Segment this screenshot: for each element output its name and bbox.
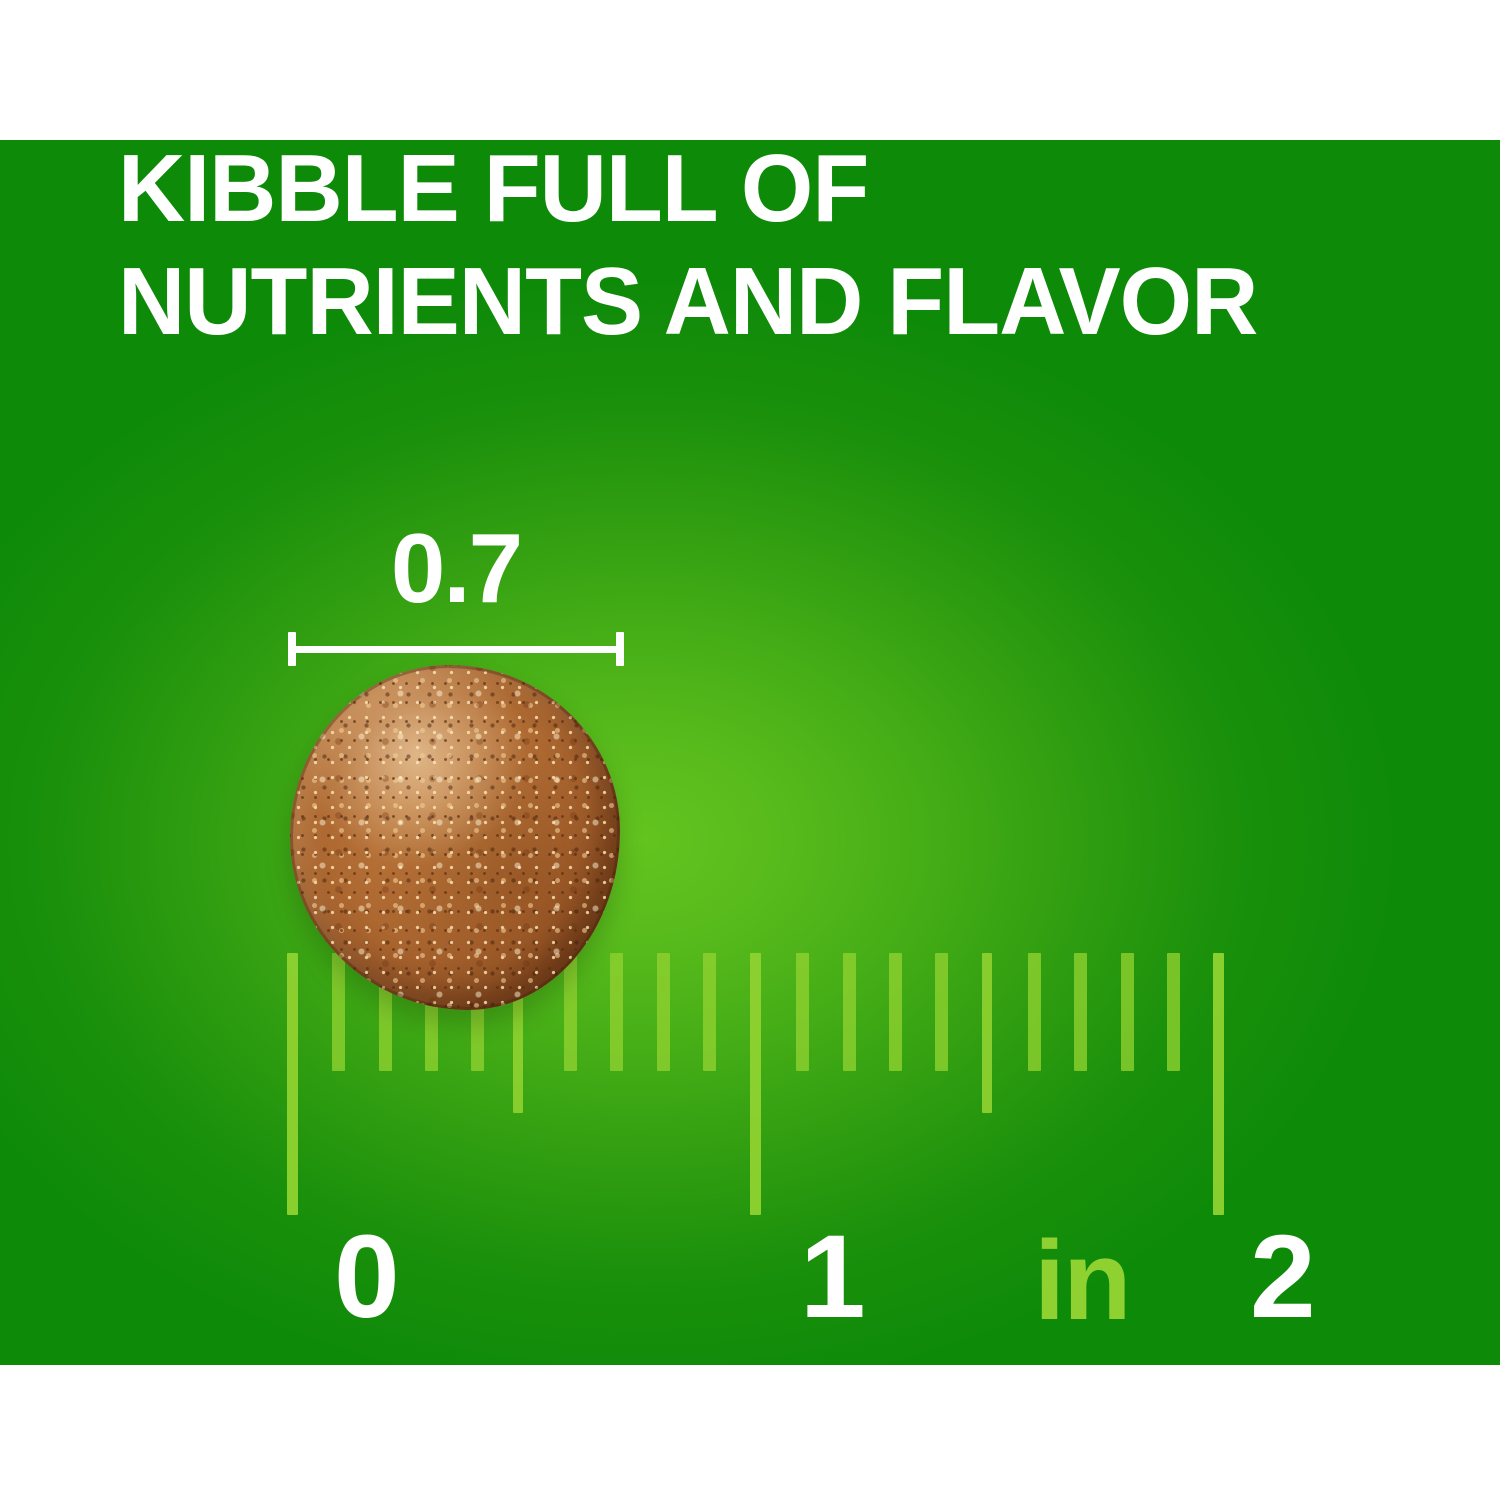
ruler-tick-half-1-5 — [982, 953, 992, 1113]
ruler-label-2: 2 — [1250, 1218, 1314, 1336]
ruler-tick-minor — [657, 953, 670, 1071]
poster-canvas: 0 1 in 2 KIBBLE FULL OF NUTRIENTS AND FL… — [0, 0, 1500, 1500]
kibble-shape — [290, 665, 620, 1010]
ruler-tick-major-2 — [1213, 953, 1224, 1215]
kibble-image — [290, 665, 620, 1010]
ruler-label-0: 0 — [334, 1218, 398, 1336]
ruler-tick-minor — [889, 953, 902, 1071]
dimension-bar — [288, 646, 624, 653]
ruler-tick-minor — [843, 953, 856, 1071]
dimension-line — [288, 632, 624, 666]
ruler-tick-minor — [703, 953, 716, 1071]
ruler-tick-minor — [935, 953, 948, 1071]
ruler-tick-minor — [1074, 953, 1087, 1071]
page-title: KIBBLE FULL OF NUTRIENTS AND FLAVOR — [118, 132, 1476, 358]
kibble-edge — [290, 665, 620, 1010]
ruler-tick-minor — [796, 953, 809, 1071]
ruler-tick-minor — [1028, 953, 1041, 1071]
kibble-size-label: 0.7 — [288, 518, 624, 618]
ruler-label-1: 1 — [800, 1218, 864, 1336]
ruler-tick-major-1 — [750, 953, 761, 1215]
ruler-unit-label: in — [1034, 1222, 1130, 1340]
ruler-tick-minor — [1121, 953, 1134, 1071]
ruler-tick-minor — [1167, 953, 1180, 1071]
dimension-cap-right-icon — [616, 632, 624, 666]
